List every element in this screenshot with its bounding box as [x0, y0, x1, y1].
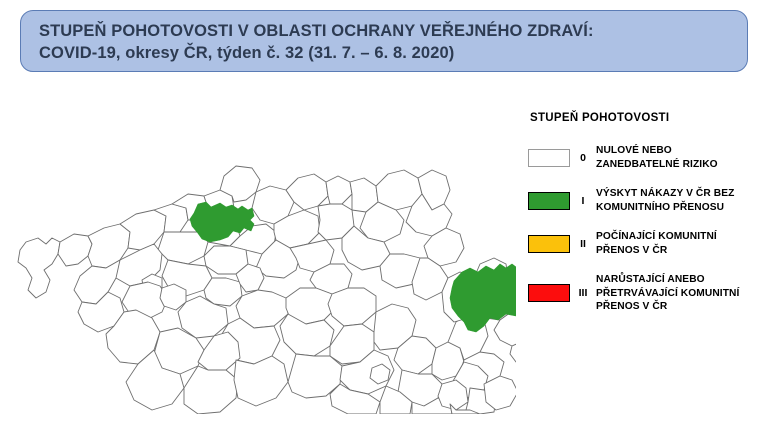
district-rokycany[interactable] [160, 284, 186, 310]
district-group-level-0 [18, 166, 516, 414]
district-havlickuv-brod[interactable] [328, 288, 376, 326]
czech-republic-district-map [8, 92, 516, 414]
legend-description-1: VÝSKYT NÁKAZY V ČR BEZ KOMUNITNÍHO PŘENO… [596, 187, 734, 214]
legend-description-1-line-2: KOMUNITNÍHO PŘENOSU [596, 201, 734, 215]
legend-level-label-3: III [570, 287, 596, 299]
legend-heading: STUPEŇ POHOTOVOSTI [530, 112, 764, 124]
legend-level-label-0: 0 [570, 152, 596, 164]
title-line-1: STUPEŇ POHOTOVOSTI V OBLASTI OCHRANY VEŘ… [39, 20, 747, 42]
legend-description-0-line-2: ZANEDBATELNÉ RIZIKO [596, 158, 718, 172]
district-jablonec[interactable] [326, 176, 352, 204]
legend-level-label-2: II [570, 238, 596, 250]
legend-swatch-level-3 [528, 284, 570, 302]
district-sokolov[interactable] [58, 234, 92, 266]
district-pisek[interactable] [198, 332, 240, 370]
district-ceske-budejovice[interactable] [184, 366, 238, 414]
legend-description-2: POČÍNAJÍCÍ KOMUNITNÍ PŘENOS V ČR [596, 230, 717, 257]
map-svg [8, 92, 516, 414]
legend-description-2-line-1: POČÍNAJÍCÍ KOMUNITNÍ [596, 230, 717, 244]
legend-panel: STUPEŇ POHOTOVOSTI 0 NULOVÉ NEBO ZANEDBA… [528, 112, 764, 330]
district-cheb[interactable] [18, 238, 60, 298]
legend-item-level-3[interactable]: III NARŮSTAJÍCÍ ANEBO PŘETRVÁVAJÍCÍ KOMU… [528, 273, 764, 314]
legend-description-3: NARŮSTAJÍCÍ ANEBO PŘETRVÁVAJÍCÍ KOMUNITN… [596, 273, 739, 314]
legend-description-3-line-2: PŘETRVÁVAJÍCÍ KOMUNITNÍ [596, 287, 739, 301]
legend-swatch-level-1 [528, 192, 570, 210]
legend-item-level-1[interactable]: I VÝSKYT NÁKAZY V ČR BEZ KOMUNITNÍHO PŘE… [528, 187, 764, 214]
legend-swatch-level-0 [528, 149, 570, 167]
legend-description-3-line-1: NARŮSTAJÍCÍ ANEBO [596, 273, 739, 287]
legend-description-2-line-2: PŘENOS V ČR [596, 244, 717, 258]
title-banner: STUPEŇ POHOTOVOSTI V OBLASTI OCHRANY VEŘ… [20, 10, 748, 72]
legend-level-label-1: I [570, 195, 596, 207]
legend-description-1-line-1: VÝSKYT NÁKAZY V ČR BEZ [596, 187, 734, 201]
title-line-2: COVID-19, okresy ČR, týden č. 32 (31. 7.… [39, 42, 747, 64]
legend-description-0: NULOVÉ NEBO ZANEDBATELNÉ RIZIKO [596, 144, 718, 171]
legend-swatch-level-2 [528, 235, 570, 253]
district-jindrichuv-hradec[interactable] [234, 356, 288, 406]
legend-item-level-0[interactable]: 0 NULOVÉ NEBO ZANEDBATELNÉ RIZIKO [528, 144, 764, 171]
legend-description-3-line-3: PŘENOS V ČR [596, 300, 739, 314]
legend-item-level-2[interactable]: II POČÍNAJÍCÍ KOMUNITNÍ PŘENOS V ČR [528, 230, 764, 257]
legend-description-0-line-1: NULOVÉ NEBO [596, 144, 718, 158]
